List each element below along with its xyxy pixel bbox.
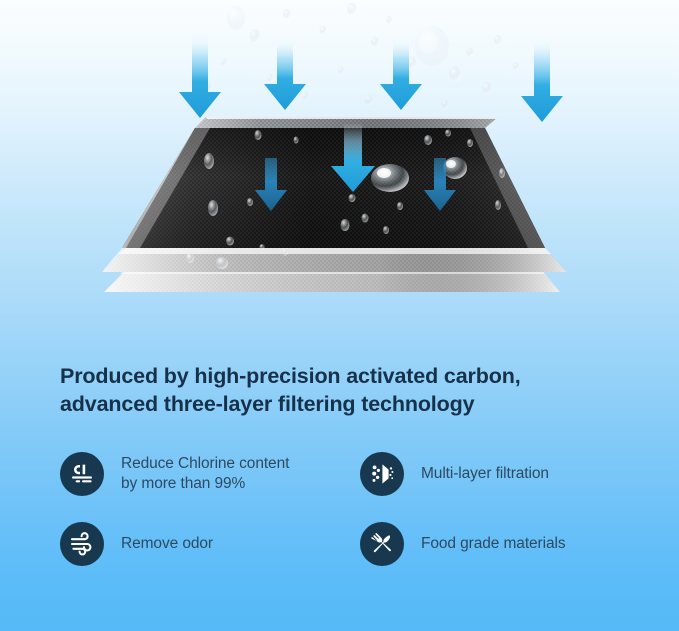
feature-label-line-1: Multi-layer filtration bbox=[421, 465, 549, 482]
feature-remove-odor: Remove odor bbox=[60, 522, 360, 566]
feature-label: Reduce Chlorine content by more than 99% bbox=[121, 454, 289, 494]
feature-row-2: Remove odor bbox=[60, 522, 640, 566]
infographic-page: Produced by high-precision activated car… bbox=[0, 0, 679, 631]
falling-droplets bbox=[203, 3, 519, 109]
inflow-arrow-1 bbox=[179, 36, 221, 118]
multi-layer-filtration-icon bbox=[360, 452, 404, 496]
headline-line-1: Produced by high-precision activated car… bbox=[60, 362, 620, 390]
feature-food-grade: Food grade materials bbox=[360, 522, 640, 566]
inflow-arrow-4 bbox=[521, 40, 563, 122]
feature-label-line-2: by more than 99% bbox=[121, 474, 289, 494]
three-layer-filter-illustration bbox=[0, 0, 679, 330]
middle-filter-layer bbox=[102, 248, 566, 272]
feature-label: Multi-layer filtration bbox=[421, 464, 549, 484]
chlorine-icon bbox=[60, 452, 104, 496]
feature-reduce-chlorine: Reduce Chlorine content by more than 99% bbox=[60, 452, 360, 496]
feature-row-1: Reduce Chlorine content by more than 99% bbox=[60, 452, 640, 496]
feature-label-line-1: Food grade materials bbox=[421, 535, 565, 552]
headline-line-2: advanced three-layer filtering technolog… bbox=[60, 390, 620, 418]
feature-label: Food grade materials bbox=[421, 534, 565, 554]
food-grade-icon bbox=[360, 522, 404, 566]
page-title: Produced by high-precision activated car… bbox=[60, 362, 620, 418]
feature-label-line-1: Reduce Chlorine content bbox=[121, 455, 289, 472]
feature-list: Reduce Chlorine content by more than 99% bbox=[60, 452, 640, 592]
feature-label-line-1: Remove odor bbox=[121, 535, 213, 552]
remove-odor-icon bbox=[60, 522, 104, 566]
feature-multi-layer-filtration: Multi-layer filtration bbox=[360, 452, 640, 496]
feature-label: Remove odor bbox=[121, 534, 213, 554]
water-inflow-arrows bbox=[179, 36, 563, 122]
